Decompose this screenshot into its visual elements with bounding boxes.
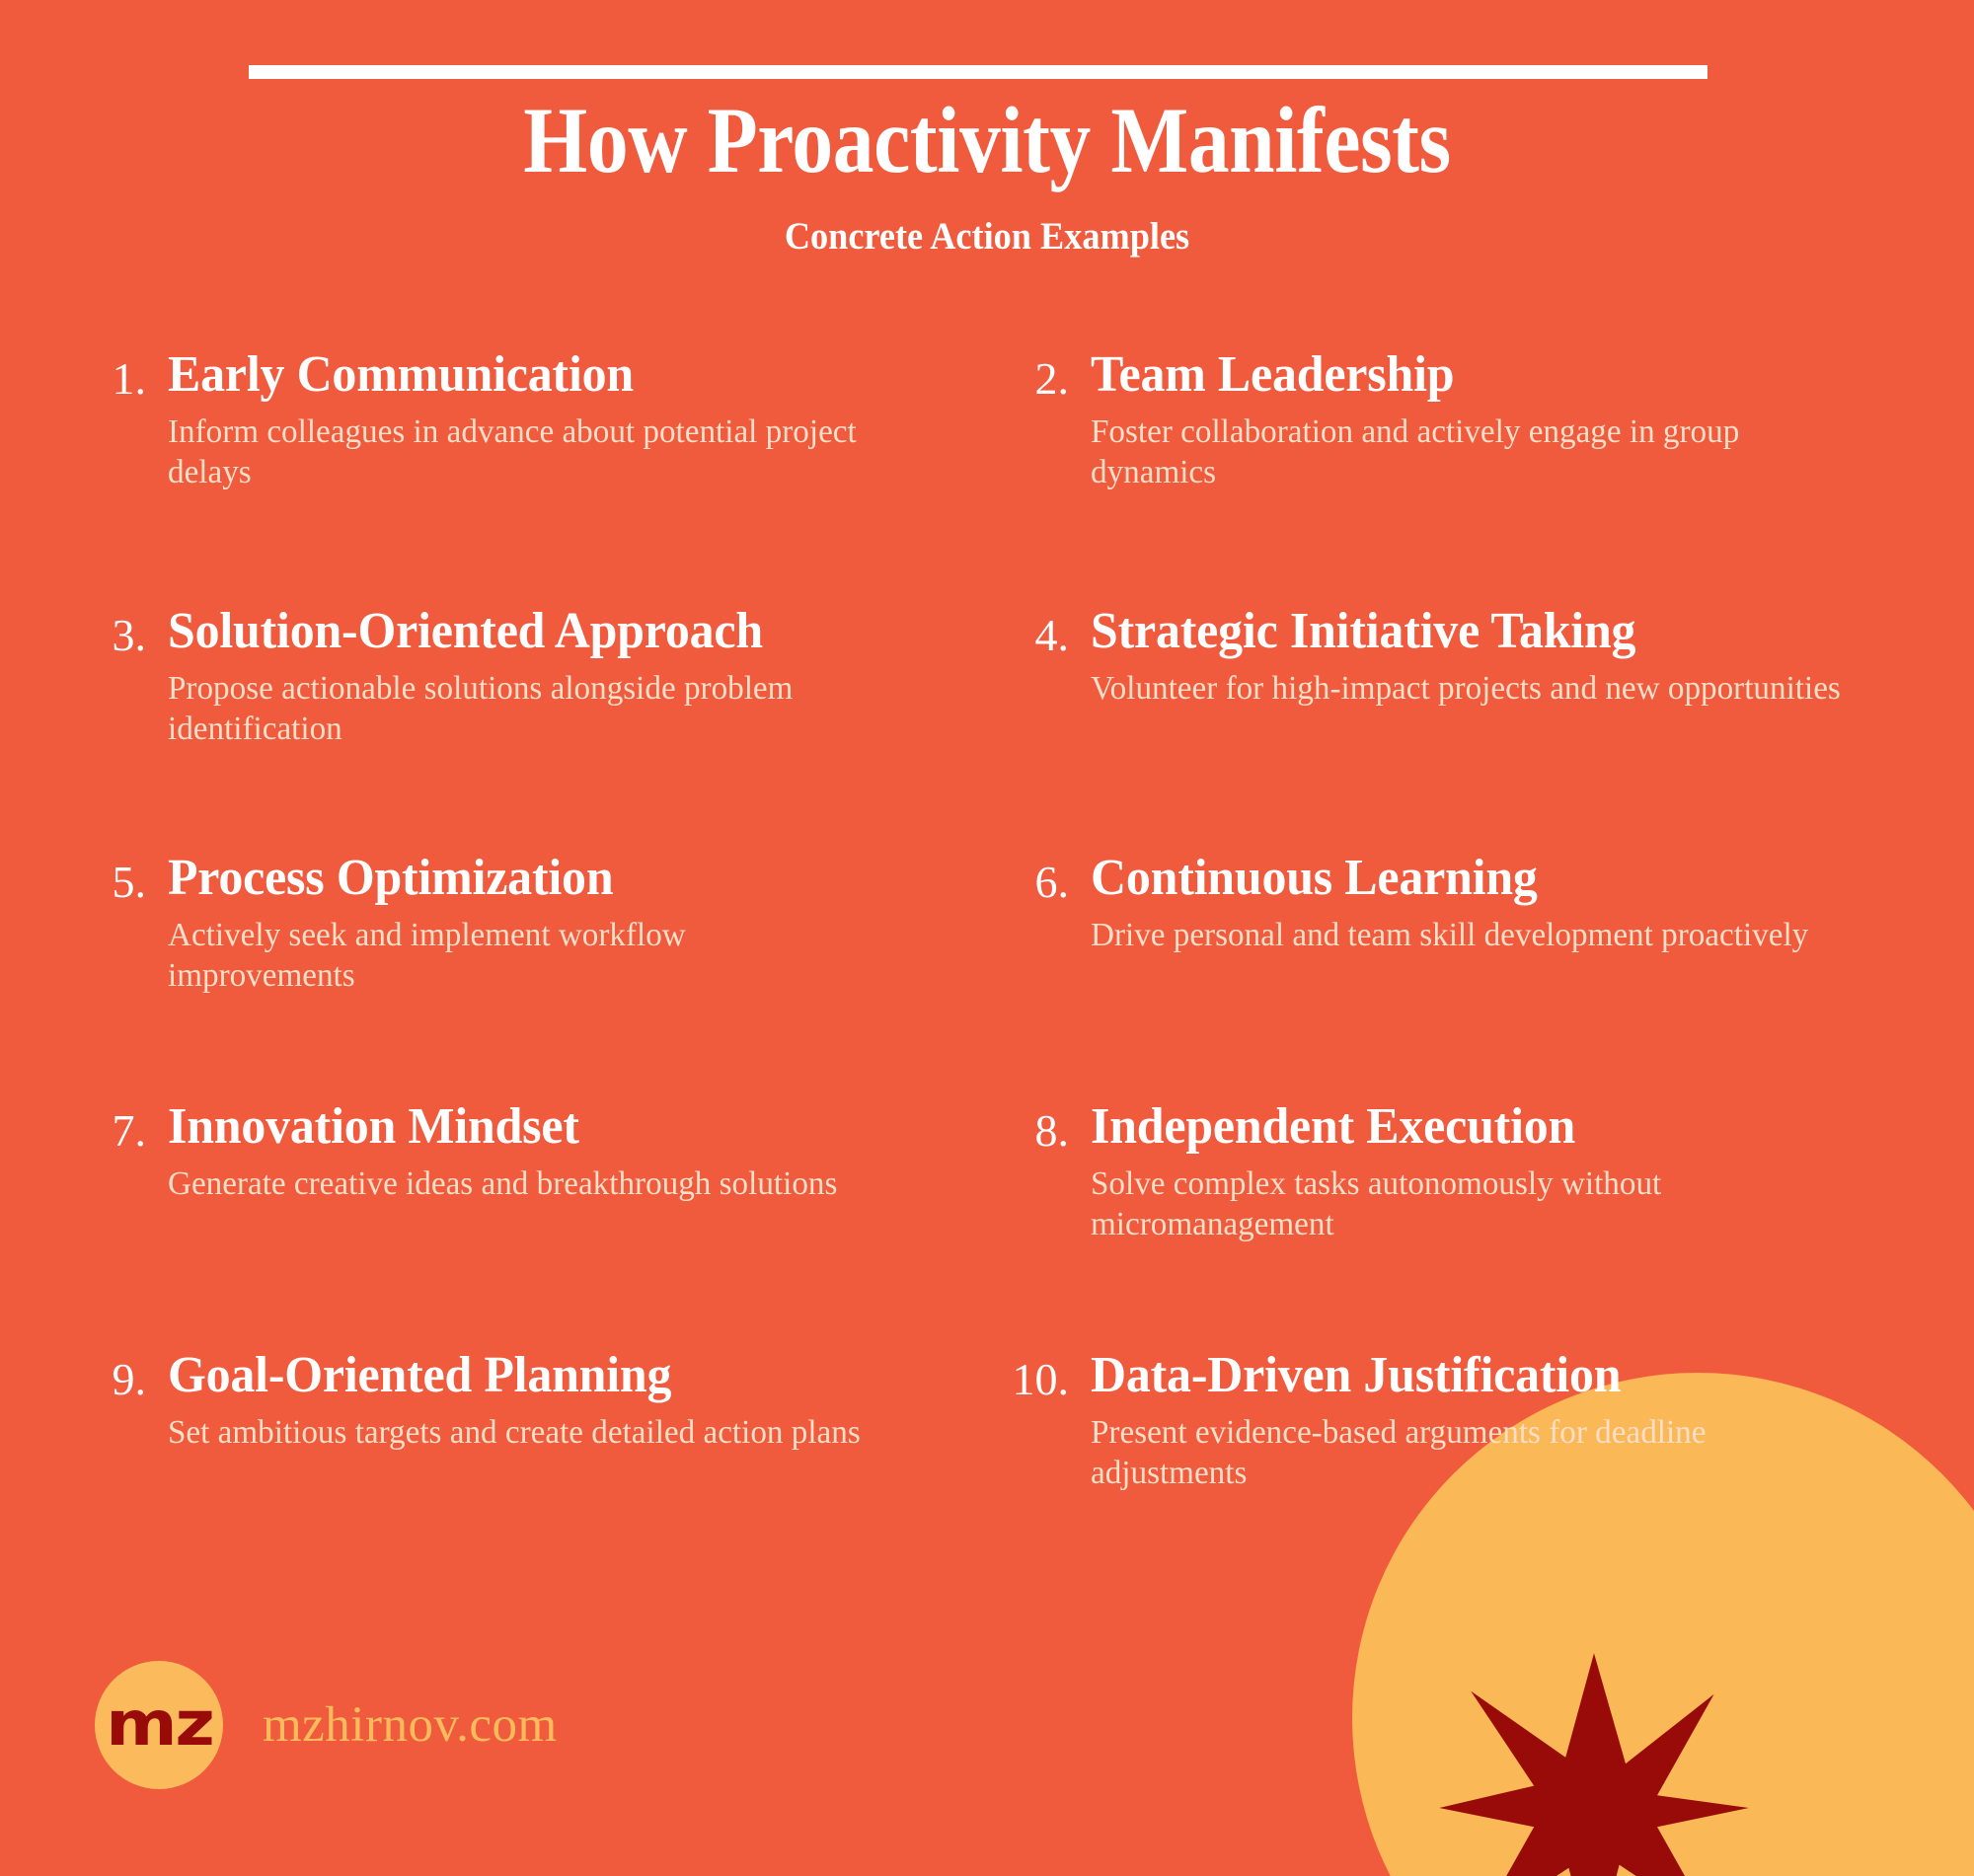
list-item: 7. Innovation Mindset Generate creative … xyxy=(87,1099,878,1348)
list-item-description: Drive personal and team skill developmen… xyxy=(1091,915,1846,956)
footer-branding: mz mzhirnov.com xyxy=(95,1661,558,1789)
list-item-title: Process Optimization xyxy=(168,851,850,906)
dark-red-starburst-decoration xyxy=(1436,1650,1752,1876)
list-item-description: Actively seek and implement workflow imp… xyxy=(168,915,861,998)
list-item-title: Strategic Initiative Taking xyxy=(1091,604,1835,659)
list-item-description: Foster collaboration and actively engage… xyxy=(1091,412,1846,494)
list-item-title: Solution-Oriented Approach xyxy=(168,604,850,659)
list-item-description: Generate creative ideas and breakthrough… xyxy=(168,1163,861,1205)
list-item-body: Innovation Mindset Generate creative ide… xyxy=(168,1099,878,1204)
top-white-rule xyxy=(249,65,1708,79)
list-item-body: Process Optimization Actively seek and i… xyxy=(168,851,878,997)
page-title: How Proactivity Manifests xyxy=(118,93,1856,188)
list-item-number: 8. xyxy=(988,1103,1091,1158)
list-item-title: Goal-Oriented Planning xyxy=(168,1348,850,1403)
list-item-number: 3. xyxy=(87,608,168,662)
list-item: 5. Process Optimization Actively seek an… xyxy=(87,851,878,1099)
list-item-body: Continuous Learning Drive personal and t… xyxy=(1091,851,1865,955)
list-item-number: 10. xyxy=(988,1352,1091,1406)
list-item: 8. Independent Execution Solve complex t… xyxy=(988,1099,1865,1348)
list-item-title: Continuous Learning xyxy=(1091,851,1835,906)
list-item-body: Independent Execution Solve complex task… xyxy=(1091,1099,1865,1245)
list-item-body: Data-Driven Justification Present eviden… xyxy=(1091,1348,1865,1494)
list-item: 3. Solution-Oriented Approach Propose ac… xyxy=(87,604,878,851)
list-item-body: Early Communication Inform colleagues in… xyxy=(168,347,878,493)
list-item: 1. Early Communication Inform colleagues… xyxy=(87,347,878,604)
list-item-description: Propose actionable solutions alongside p… xyxy=(168,668,861,751)
mz-logo-icon: mz xyxy=(95,1661,223,1789)
list-item-title: Early Communication xyxy=(168,347,850,403)
list-item-number: 9. xyxy=(87,1352,168,1406)
list-item-description: Inform colleagues in advance about poten… xyxy=(168,412,861,494)
infographic-poster: How Proactivity Manifests Concrete Actio… xyxy=(0,0,1974,1876)
header: How Proactivity Manifests Concrete Actio… xyxy=(0,93,1974,259)
site-url-label: mzhirnov.com xyxy=(263,1696,558,1754)
list-item-number: 6. xyxy=(988,855,1091,909)
list-item-number: 2. xyxy=(988,351,1091,406)
list-item-description: Set ambitious targets and create detaile… xyxy=(168,1412,861,1454)
list-item-title: Data-Driven Justification xyxy=(1091,1348,1835,1403)
items-grid: 1. Early Communication Inform colleagues… xyxy=(0,347,1974,1494)
list-item: 2. Team Leadership Foster collaboration … xyxy=(988,347,1865,604)
list-item-title: Independent Execution xyxy=(1091,1099,1835,1155)
list-item: 4. Strategic Initiative Taking Volunteer… xyxy=(988,604,1865,851)
list-item-number: 7. xyxy=(87,1103,168,1158)
right-column: 2. Team Leadership Foster collaboration … xyxy=(987,347,1974,1494)
list-item-title: Team Leadership xyxy=(1091,347,1835,403)
list-item-body: Goal-Oriented Planning Set ambitious tar… xyxy=(168,1348,878,1453)
page-subtitle: Concrete Action Examples xyxy=(69,214,1905,259)
list-item-title: Innovation Mindset xyxy=(168,1099,850,1155)
list-item: 10. Data-Driven Justification Present ev… xyxy=(988,1348,1865,1494)
left-column: 1. Early Communication Inform colleagues… xyxy=(0,347,987,1494)
list-item-body: Team Leadership Foster collaboration and… xyxy=(1091,347,1865,493)
list-item-number: 4. xyxy=(988,608,1091,662)
list-item-description: Present evidence-based arguments for dea… xyxy=(1091,1412,1846,1495)
list-item-body: Strategic Initiative Taking Volunteer fo… xyxy=(1091,604,1865,709)
list-item-description: Solve complex tasks autonomously without… xyxy=(1091,1163,1846,1246)
list-item-description: Volunteer for high-impact projects and n… xyxy=(1091,668,1846,710)
list-item: 6. Continuous Learning Drive personal an… xyxy=(988,851,1865,1099)
list-item-body: Solution-Oriented Approach Propose actio… xyxy=(168,604,878,750)
list-item-number: 1. xyxy=(87,351,168,406)
list-item-number: 5. xyxy=(87,855,168,909)
list-item: 9. Goal-Oriented Planning Set ambitious … xyxy=(87,1348,878,1453)
logo-monogram: mz xyxy=(106,1693,212,1755)
